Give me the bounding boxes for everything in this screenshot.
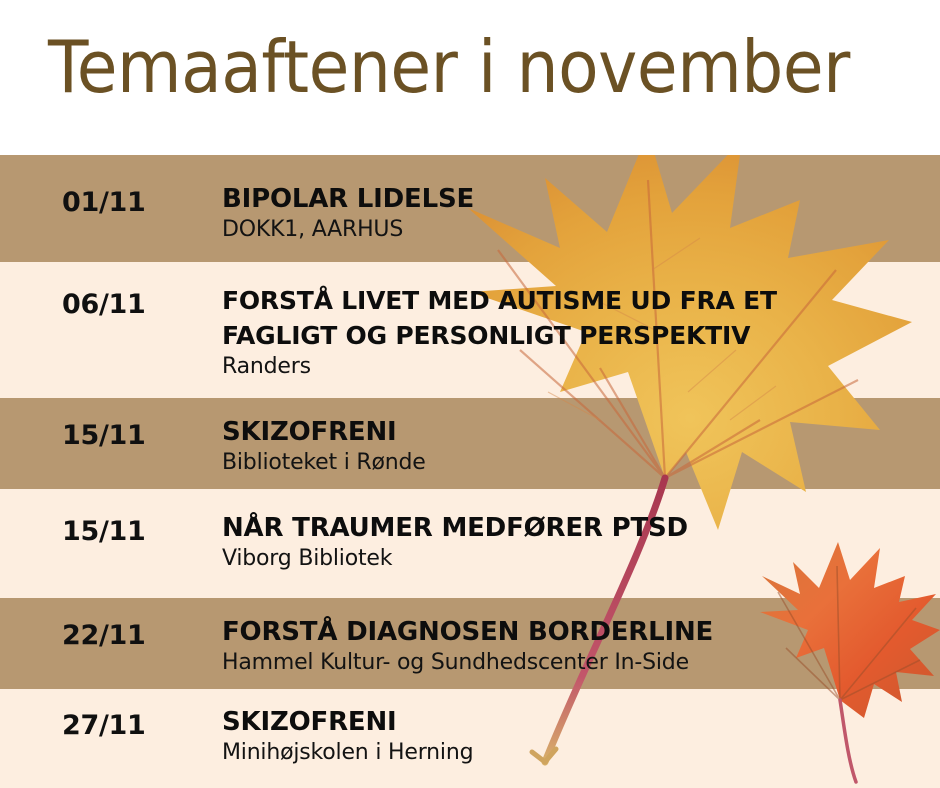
event-date: 22/11 bbox=[62, 620, 146, 651]
event-title: FORSTÅ DIAGNOSEN BORDERLINE bbox=[222, 616, 922, 649]
event-row[interactable]: 22/11FORSTÅ DIAGNOSEN BORDERLINEHammel K… bbox=[0, 598, 940, 689]
event-row[interactable]: 01/11BIPOLAR LIDELSEDOKK1, AARHUS bbox=[0, 155, 940, 262]
event-body: FORSTÅ LIVET MED AUTISME UD FRA ET FAGLI… bbox=[222, 283, 922, 380]
event-date: 01/11 bbox=[62, 187, 146, 218]
event-body: BIPOLAR LIDELSEDOKK1, AARHUS bbox=[222, 183, 922, 243]
event-title: SKIZOFRENI bbox=[222, 416, 922, 449]
event-title: NÅR TRAUMER MEDFØRER PTSD bbox=[222, 512, 922, 545]
event-title: FORSTÅ LIVET MED AUTISME UD FRA ET FAGLI… bbox=[222, 283, 922, 353]
event-venue: Randers bbox=[222, 353, 922, 380]
event-venue: Biblioteket i Rønde bbox=[222, 449, 922, 476]
event-venue: Minihøjskolen i Herning bbox=[222, 739, 922, 766]
event-title: SKIZOFRENI bbox=[222, 706, 922, 739]
header-bar: Temaaftener i november bbox=[0, 0, 940, 155]
poster-canvas: Temaaftener i november 01/11BIPOLAR LIDE… bbox=[0, 0, 940, 788]
event-date: 15/11 bbox=[62, 420, 146, 451]
event-date: 27/11 bbox=[62, 710, 146, 741]
event-row[interactable]: 15/11NÅR TRAUMER MEDFØRER PTSDViborg Bib… bbox=[0, 489, 940, 598]
page-title: Temaaftener i november bbox=[48, 26, 850, 108]
event-body: NÅR TRAUMER MEDFØRER PTSDViborg Bibliote… bbox=[222, 512, 922, 572]
event-venue: DOKK1, AARHUS bbox=[222, 216, 922, 243]
event-body: SKIZOFRENIBiblioteket i Rønde bbox=[222, 416, 922, 476]
event-venue: Viborg Bibliotek bbox=[222, 545, 922, 572]
event-body: SKIZOFRENIMinihøjskolen i Herning bbox=[222, 706, 922, 766]
event-date: 15/11 bbox=[62, 516, 146, 547]
event-row[interactable]: 15/11SKIZOFRENIBiblioteket i Rønde bbox=[0, 398, 940, 489]
event-venue: Hammel Kultur- og Sundhedscenter In-Side bbox=[222, 649, 922, 676]
event-title: BIPOLAR LIDELSE bbox=[222, 183, 922, 216]
event-date: 06/11 bbox=[62, 289, 146, 320]
event-row[interactable]: 27/11SKIZOFRENIMinihøjskolen i Herning bbox=[0, 689, 940, 788]
event-body: FORSTÅ DIAGNOSEN BORDERLINEHammel Kultur… bbox=[222, 616, 922, 676]
